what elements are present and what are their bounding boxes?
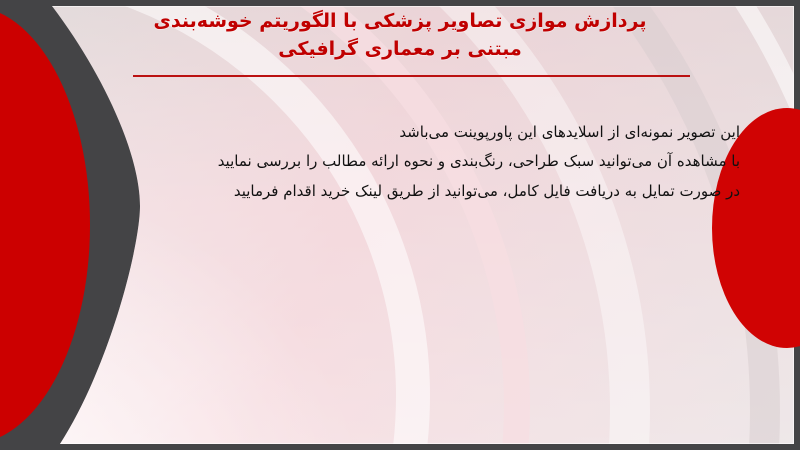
slide-title: پردازش موازی تصاویر پزشکی با الگوریتم خو… [110,8,690,63]
slide-canvas: پردازش موازی تصاویر پزشکی با الگوریتم خو… [0,0,800,450]
slide-title-line-2: مبتنی بر معماری گرافیکی [110,36,690,64]
slide-body-line-2: با مشاهده آن می‌توانید سبک طراحی، رنگ‌بن… [120,147,740,176]
slide-body: این تصویر نمونه‌ای از اسلایدهای این پاور… [120,118,740,206]
slide-title-line-1: پردازش موازی تصاویر پزشکی با الگوریتم خو… [110,8,690,36]
slide-body-line-1: این تصویر نمونه‌ای از اسلایدهای این پاور… [120,118,740,147]
slide-body-line-3: در صورت تمایل به دریافت فایل کامل، می‌تو… [120,177,740,206]
title-underline [133,75,690,77]
